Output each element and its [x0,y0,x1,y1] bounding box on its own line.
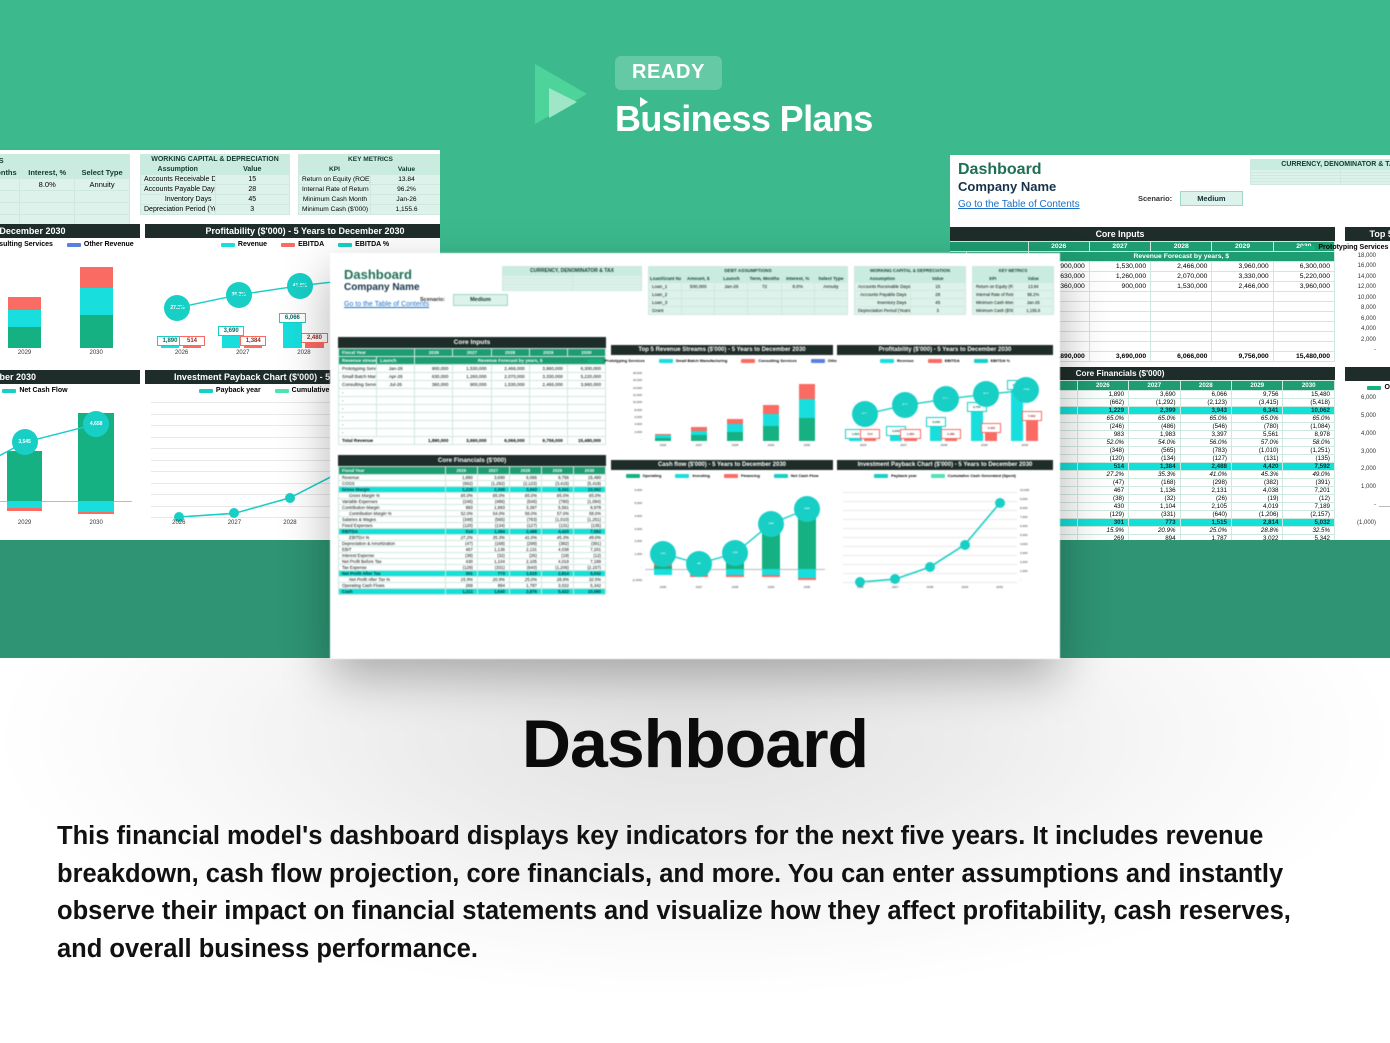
key-metrics-block-row: Minimum Cash MonthJan-26 [973,299,1054,307]
working-capital-block-title: WORKING CAPITAL & DEPRECIATION [855,267,966,275]
bg-right-core-inputs-stream-value [1273,312,1334,322]
table-row: Contribution Margin9831,9833,3975,5618,9… [339,505,606,511]
core-inputs-stream-value [529,397,567,405]
debt-block-row: Loan_3 [649,299,848,307]
core-financials-row-value: 1,640 [477,589,509,595]
debt-block-title: DEBT ASSUMPTIONS [649,267,848,275]
bg-right-core-financials-year: 2028 [1180,381,1231,391]
bg-left-debt-block-cell: 8.0% [20,179,75,191]
bg-left-kpi-block-value: 1,155.6 [371,205,441,215]
x-tick: 2028 [924,443,964,447]
bg-right-core-financials-row-value: (2,123) [1180,399,1231,407]
toc-link[interactable]: Go to the Table of Contents [958,199,1080,210]
bg-left-debt-block-table: DEBT ASSUMPTIONSLoan/Grant NameAmount, $… [0,154,130,227]
bar-group [799,384,816,441]
core-financials-years-row: Fiscal Year20262027202820292030 [339,467,606,475]
x-tick: 2028 [717,443,753,447]
working-capital-block-col: Assumption [855,275,911,283]
key-metrics-block-row: Internal Rate of Return (IRR), %96.2% [973,291,1054,299]
legend-label: Payback year [216,387,261,394]
key-metrics-block: KEY METRICSKPIValueReturn on Equity (ROE… [972,266,1054,315]
y-tick: 4,000 [611,422,642,426]
bg-left-wc-block-value: 28 [215,185,290,195]
y-tick: 1,000 [1020,569,1051,573]
bg-right-core-inputs-stream-value: 5,220,000 [1273,272,1334,282]
cash-flow-chart-title: Cash flow ($'000) - 5 Years to December … [611,460,833,470]
y-tick: 16,000 [1345,263,1376,269]
bg-right-core-financials-row-value: 15.9% [1077,527,1128,535]
bg-left-debt-block-title: DEBT ASSUMPTIONS [0,155,130,167]
core-financials-header: Core Financials ($'000) [338,455,606,466]
currency-block-title: CURRENCY, DENOMINATOR & TAX [503,267,642,276]
bg-right-header: DashboardCompany NameGo to the Table of … [958,161,1080,212]
legend-item: Cumulative Cash Generated (Spent) [931,473,1016,478]
bar-group [691,427,708,441]
bg-right-core-financials-row-value: 1,104 [1129,503,1180,511]
debt-block-row: Loan_2 [649,291,848,299]
bg-right-core-financials-row-value: 7,592 [1283,463,1335,471]
core-inputs-stream-value [529,429,567,437]
legend-item: Prototyping Services [1301,244,1388,251]
debt-block-cell: Loan_2 [649,291,682,299]
legend-label: Prototyping Services [1318,244,1388,251]
y-tick: - [1020,578,1051,582]
bg-right-core-inputs-fiscal-label: Fiscal Year [950,242,1028,252]
bg-right-revenue-chart-legend: Prototyping ServicesSmall Batch Manufact… [1345,244,1390,251]
revenue-streams-chart: Top 5 Revenue Streams ($'000) - 5 Years … [611,345,833,457]
core-inputs-stream-launch [377,413,415,421]
debt-block-cell [715,299,748,307]
y-tick: 8,000 [611,408,642,412]
y-tick: 12,000 [611,393,642,397]
core-inputs-stream-label: Revenue streams [339,357,377,365]
bar-segment [763,414,780,426]
legend-label: Other Revenue [84,241,134,248]
bar-group [80,267,113,348]
currency-block-table: CURRENCY, DENOMINATOR & TAX [502,266,642,291]
debt-block-col: Select Type [814,275,847,283]
core-inputs-stream-name: - [339,413,377,421]
ebitda-pct-line [843,379,1045,441]
bg-left-kpi-block-label: Minimum Cash ($'000) [299,205,371,215]
bg-right-core-inputs-total-value: 15,480,000 [1273,352,1334,362]
legend-swatch [588,359,602,363]
debt-block-col: Term, Months [748,275,781,283]
bg-right-core-financials-year: 2030 [1283,381,1335,391]
y-tick: - [1345,502,1376,508]
bg-right-core-financials-row-value: 32.5% [1283,527,1335,535]
bg-right-core-financials-row-value: 2,399 [1129,407,1180,415]
working-capital-block-label: Accounts Payable Days [855,291,911,299]
y-tick: 14,000 [1345,274,1376,280]
key-metrics-block-col: Value [1013,275,1054,283]
bg-right-core-financials-row-value: 25.0% [1180,527,1231,535]
bg-right-core-financials-row-value: 2,488 [1180,463,1231,471]
bar-segment [655,438,672,441]
bg-right-core-inputs-year: 2028 [1151,242,1212,252]
table-row: - [339,421,606,429]
scenario-select[interactable]: Medium [1180,191,1242,206]
debt-block-row: Loan_1500,000Jan-26728.0%Annuity [649,283,848,291]
bg-left-kpi-block-row: Return on Equity (ROE)13.84 [299,175,441,185]
dashboard-header: DashboardCompany NameGo to the Table of … [344,267,429,311]
legend-item: Consulting Services [741,358,796,363]
investment-payback-chart-plot: 10,0009,0008,0007,0006,0005,0004,0003,00… [843,492,1017,582]
table-row: - [339,413,606,421]
bg-right-currency-block-label [1251,182,1341,185]
bg-right-currency-block-value [1340,182,1390,185]
bg-left-wc-block: WORKING CAPITAL & DEPRECIATIONAssumption… [140,154,290,215]
bg-left-debt-block-row: Loan_1500,000Jan-26728.0%Annuity [0,179,130,191]
legend-swatch [659,359,673,363]
legend-label: Consulting Services [758,358,796,363]
legend-item: EBITDA % [974,358,1010,363]
bg-left-wc-block-value: 15 [215,175,290,185]
bg-right-core-inputs-stream-value [1212,322,1273,332]
debt-block-col: Loan/Grant Name [649,275,682,283]
legend-swatch [281,243,295,247]
bg-right-core-financials-row-value: 54.0% [1129,439,1180,447]
bg-left-wc-block-label: Accounts Payable Days [141,185,216,195]
legend-label: Operating [1384,384,1390,391]
core-inputs-stream-value: 3,960,000 [567,381,605,389]
core-inputs-stream-value [491,405,529,413]
y-tick: 2,000 [611,539,642,543]
bg-left-kpi-block-table: KEY METRICSKPIValueReturn on Equity (ROE… [298,154,440,215]
profitability-chart: Profitability ($'000) - 5 Years to Decem… [837,345,1053,457]
core-inputs-stream-value: 630,000 [415,373,453,381]
x-tick: 2027 [878,585,913,589]
company-name: Company Name [344,282,429,293]
bg-right-core-inputs-stream-value: 1,260,000 [1089,272,1150,282]
core-inputs-stream-value [453,397,491,405]
core-inputs-total-value: 6,066,000 [491,437,529,445]
key-metrics-block-label: Return on Equity (ROE) [973,283,1014,291]
bg-right-core-financials-row-value: 4,420 [1232,463,1283,471]
legend-item: Consulting Services [0,241,53,248]
bg-right-core-inputs-stream-value [1212,312,1273,322]
core-inputs-stream-value [529,389,567,397]
bg-right-core-financials-row-value: 5,342 [1283,535,1335,541]
bg-right-revenue-chart-plot: 18,00016,00014,00012,00010,0008,0006,000… [1379,257,1390,351]
bg-right-core-inputs-stream-value [1089,332,1150,342]
bg-right-core-financials-row-value: 52.0% [1077,439,1128,447]
core-inputs-stream-value [415,405,453,413]
cash-flow-chart-legend: OperatingInvestingFinancingNet Cash Flow [611,473,833,478]
bg-right-core-financials-row-value: 894 [1129,535,1180,541]
bg-right-core-financials-row-value: 2,105 [1180,503,1231,511]
toc-link[interactable]: Go to the Table of Contents [344,301,429,308]
debt-block-table: DEBT ASSUMPTIONSLoan/Grant NameAmount, $… [648,266,848,315]
core-financials-row-value: 10,080 [573,589,605,595]
legend-label: Net Cash Flow [19,387,67,394]
core-inputs-stream-name: - [339,389,377,397]
bg-right-cash-chart-title: Cash flow ($'000) - 5 Years to December … [1345,367,1390,381]
bg-right-core-financials-row-value: 65.0% [1077,415,1128,423]
core-inputs-stream-value [567,429,605,437]
key-metrics-block-row: Minimum Cash ($'000)1,155.6 [973,307,1054,315]
core-inputs-stream-launch [377,405,415,413]
core-inputs-table: Fiscal Year20262027202820292030Revenue s… [338,348,606,445]
company-name: Company Name [958,179,1080,194]
bg-right-core-financials-year: 2027 [1129,381,1180,391]
core-inputs-stream-value [567,413,605,421]
bg-right-core-financials-row-value: 1,229 [1077,407,1128,415]
x-tick: 2027 [207,520,263,526]
x-tick: 2026 [645,443,681,447]
core-inputs-stream-value [415,413,453,421]
core-inputs-stream-name: - [339,429,377,437]
x-tick: 2026 [1379,353,1390,359]
dashboard-panel[interactable]: DashboardCompany NameGo to the Table of … [330,253,1060,659]
legend-item: EBITDA [928,358,960,363]
legend-label: Prototyping Services [605,358,645,363]
data-point [995,498,1005,508]
table-row: Small Batch ManufacturingApr-26630,0001,… [339,373,606,381]
bg-right-core-financials-row-value: 65.0% [1129,415,1180,423]
y-tick: 4,000 [611,514,642,518]
core-inputs-header: Core Inputs [338,337,606,348]
x-tick: 2030 [789,443,825,447]
x-tick: 2030 [60,520,132,526]
bg-right-core-inputs-stream-value: 3,960,000 [1273,282,1334,292]
core-inputs-stream-value: 2,466,000 [491,365,529,373]
debt-block-cell [781,307,814,315]
bg-right-core-financials-row-value: 45.3% [1232,471,1283,479]
x-tick: 2026 [843,585,878,589]
key-metrics-block-value: Jan-26 [1013,299,1054,307]
core-financials-year: 2027 [477,467,509,475]
x-tick: 2029 [753,443,789,447]
core-inputs-stream-value [415,397,453,405]
y-tick: 7,000 [1020,515,1051,519]
table-row: Contribution Margin %52.0%54.0%56.0%57.0… [339,511,606,517]
working-capital-block-value: 45 [910,299,966,307]
bg-right-core-inputs-stream-value [1151,292,1212,302]
brand-logo: READY Business Plans [527,56,887,156]
bg-right-core-financials-row-value: 2,131 [1180,487,1231,495]
legend-swatch [928,359,942,363]
bg-left-revenue-chart: Top 5 Revenue Streams ($'000) - 5 Years … [0,224,140,364]
bg-right-core-financials-row-value: (1,010) [1232,447,1283,455]
bg-right-core-financials-row-value: 2,814 [1232,519,1283,527]
bg-right-core-inputs-total-value: 6,066,000 [1151,352,1212,362]
y-tick: 3,000 [611,527,642,531]
bg-right-core-financials-row-value: (47) [1077,479,1128,487]
bar-group [8,297,41,348]
bg-left-kpi-block-title: KEY METRICS [299,155,441,165]
core-inputs-year: 2026 [415,349,453,357]
core-financials-year: 2029 [541,467,573,475]
core-inputs-subhead-row: Revenue streamsLaunchRevenue Forecast by… [339,357,606,365]
bg-right-core-financials-row-value: 65.0% [1232,415,1283,423]
bg-left-profitability-chart-legend: RevenueEBITDAEBITDA % [145,241,440,248]
bg-right-core-inputs-header: Core Inputs [950,227,1335,241]
x-tick: 2028 [262,520,318,526]
bar-segment [799,384,816,399]
core-inputs-stream-launch: Jul-26 [377,381,415,389]
bg-left-debt-block-cell: Annuity [75,179,130,191]
core-inputs-year: 2027 [453,349,491,357]
bg-right-core-inputs-stream-value: 1,530,000 [1151,282,1212,292]
bg-left-kpi-block-row: Minimum Cash MonthJan-26 [299,195,441,205]
core-inputs-year: 2030 [567,349,605,357]
core-inputs-stream-value: 360,000 [415,381,453,389]
bg-left-wc-block-row: Depreciation Period (Years)3 [141,205,290,215]
y-tick: 2,000 [1345,466,1376,472]
y-tick: 2,000 [611,430,642,434]
core-inputs-total-value: 3,690,000 [453,437,491,445]
core-inputs-total-value: 9,756,000 [529,437,567,445]
legend-swatch [1301,246,1315,250]
core-inputs-stream-name: Small Batch Manufacturing [339,373,377,381]
legend-item: Net Cash Flow [2,387,67,394]
x-tick: 2030 [60,350,132,356]
bg-right-core-inputs-stream-value: 2,070,000 [1151,272,1212,282]
legend-label: Operating [643,473,662,478]
core-inputs-stream-value [529,421,567,429]
table-row: - [339,405,606,413]
debt-block-col: Amount, $ [682,275,715,283]
bg-right-core-financials-row-value: 41.0% [1180,471,1231,479]
core-inputs-launch-label: Launch [377,357,415,365]
bg-right-core-financials-year: 2029 [1232,381,1283,391]
x-tick: 2026 [645,585,681,589]
core-inputs-stream-launch [377,429,415,437]
core-inputs-stream-value: 1,260,000 [453,373,491,381]
y-tick: (1,000) [611,578,642,582]
bg-right-core-financials-row-value: 1,384 [1129,463,1180,471]
legend-label: Financing [741,473,760,478]
bg-left-revenue-chart-title: Top 5 Revenue Streams ($'000) - 5 Years … [0,224,140,238]
net-cash-flow-line [1379,399,1390,524]
bar-segment [691,435,708,441]
y-tick: 12,000 [1345,284,1376,290]
table-row: Operating Cash Flows2698941,7873,0225,34… [339,583,606,589]
debt-block-cell [814,307,847,315]
bar-group [655,434,672,441]
net-cash-bubble: 3,545 [12,429,38,455]
bg-left-wc-block-label: Accounts Receivable Days [141,175,216,185]
core-inputs-year: 2029 [529,349,567,357]
table-row: Net Profit After Tax %15.9%20.9%25.0%28.… [339,577,606,583]
core-inputs-stream-value [529,405,567,413]
core-inputs-stream-value [529,413,567,421]
bg-left-debt-block: DEBT ASSUMPTIONSLoan/Grant NameAmount, $… [0,154,130,227]
bar-group [763,405,780,441]
legend-swatch [67,243,81,247]
investment-payback-chart-title: Investment Payback Chart ($'000) - 5 Yea… [837,460,1053,470]
bg-right-core-inputs-stream-value [1151,302,1212,312]
bar-segment [80,267,113,288]
dashboard-heading: Dashboard [344,267,429,282]
bg-right-core-inputs-stream-value [1273,332,1334,342]
core-inputs-stream-launch [377,421,415,429]
core-inputs-forecast-label: Revenue Forecast by years, $ [415,357,606,365]
legend-item: Payback year [874,473,917,478]
bg-right-core-financials-row-value: 1,515 [1180,519,1231,527]
bg-left-debt-block-cell [20,203,75,215]
debt-block-cell: Loan_3 [649,299,682,307]
table-row: - [339,429,606,437]
debt-block-row: Grant [649,307,848,315]
net-cash-bubble: 3,545 [758,511,784,537]
currency-block: CURRENCY, DENOMINATOR & TAX [502,266,642,291]
table-row: - [339,389,606,397]
bg-left-wc-block-col: Value [215,165,290,175]
cash-flow-chart: Cash flow ($'000) - 5 Years to December … [611,460,833,600]
bg-left-kpi-block-label: Return on Equity (ROE) [299,175,371,185]
bar-segment [727,424,744,432]
bg-right-core-financials-row-value: 3,022 [1232,535,1283,541]
bg-left-debt-block-row: Loan_2 [0,191,130,203]
bg-right-core-inputs-stream-value [1273,342,1334,352]
bg-right-currency-block-title: CURRENCY, DENOMINATOR & TAX [1251,160,1390,170]
legend-item: EBITDA % [338,241,389,248]
profitability-chart-title: Profitability ($'000) - 5 Years to Decem… [837,345,1053,355]
y-tick: 6,000 [1020,524,1051,528]
legend-item: Financing [724,473,760,478]
bg-right-core-financials-row-value: (246) [1077,423,1128,431]
table-row: Gross Margin %65.0%65.0%65.0%65.0%65.0% [339,493,606,499]
bg-left-kpi-block-label: Internal Rate of Return (IRR), % [299,185,371,195]
legend-swatch [626,474,640,478]
legend-item: Payback year [199,387,261,394]
legend-item: Other Revenue [67,241,134,248]
x-tick: 2028 [913,585,948,589]
bg-right-core-financials-row-value: (1,251) [1283,447,1335,455]
y-tick: 5,000 [1020,533,1051,537]
bg-left-cash-chart-legend: OperatingInvestingFinancingNet Cash Flow [0,387,140,394]
bg-right-core-financials-row-value: 1,983 [1129,431,1180,439]
bar-segment [8,297,41,310]
scenario-select[interactable]: Medium [453,294,508,306]
bg-left-debt-block-cell [0,191,20,203]
legend-swatch [199,389,213,393]
data-point [960,540,970,550]
bg-right-core-financials-row-value: 5,561 [1232,431,1283,439]
core-inputs-stream-value [567,405,605,413]
working-capital-block-value: 15 [910,283,966,291]
bg-right-core-financials-row-value: (391) [1283,479,1335,487]
bar-segment [799,418,816,441]
bg-right-core-financials-row-value: 10,062 [1283,407,1335,415]
currency-block-label [503,288,573,291]
bg-right-core-inputs-stream-value: 900,000 [1089,282,1150,292]
key-metrics-block-value: 13.84 [1013,283,1054,291]
brand-name: Business Plans [615,98,873,140]
bg-left-kpi-block-col: Value [371,165,441,175]
y-tick: - [611,437,642,441]
y-tick: 10,000 [1345,295,1376,301]
core-financials-year: 2028 [509,467,541,475]
bg-right-cash-chart: Cash flow ($'000) - 5 Years to December … [1345,367,1390,540]
bg-right-core-inputs-stream-value [1089,292,1150,302]
legend-label: Small Batch Manufacturing [676,358,728,363]
bg-right-core-inputs-stream-value [1212,302,1273,312]
table-row: Prototyping ServicesJan-26900,0001,530,0… [339,365,606,373]
bg-right-core-financials-row-value: (546) [1180,423,1231,431]
bar-segment [8,327,41,348]
bg-right-core-inputs-stream-value [1089,302,1150,312]
core-inputs-stream-value: 2,466,000 [529,381,567,389]
bg-left-wc-block-row: Accounts Payable Days28 [141,185,290,195]
y-tick: - [611,565,642,569]
core-inputs-stream-value [453,429,491,437]
core-inputs-stream-value [567,389,605,397]
bg-right-currency-block: CURRENCY, DENOMINATOR & TAX [1250,159,1390,185]
core-inputs-years-row: Fiscal Year20262027202820292030 [339,349,606,357]
